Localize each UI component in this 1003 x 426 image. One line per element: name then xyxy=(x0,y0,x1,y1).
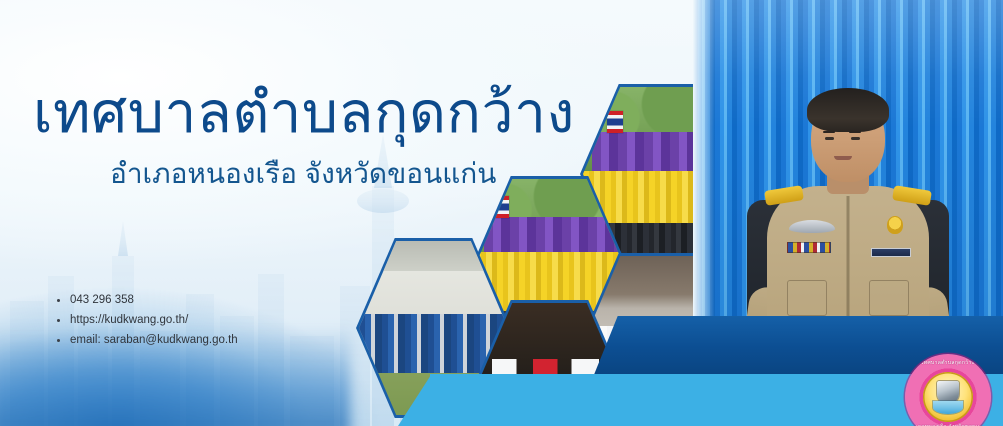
desk-surface-angled xyxy=(594,316,787,374)
municipal-seal[interactable]: เทศบาลตำบลกุดกว้าง อำเภอหนองเรือ จังหวัด… xyxy=(905,354,991,426)
wing-badge-icon xyxy=(789,220,835,233)
eye-left xyxy=(825,137,834,141)
epaulette-right xyxy=(892,185,932,206)
hair xyxy=(807,88,889,132)
pocket-left xyxy=(787,280,827,316)
eyebrow-right xyxy=(849,131,861,134)
eyebrow-left xyxy=(823,131,835,134)
ribbon-bar xyxy=(787,242,831,253)
municipality-banner: เทศบาลตำบลกุดกว้าง อำเภอหนองเรือ จังหวัด… xyxy=(0,0,1003,426)
pocket-right xyxy=(869,280,909,316)
mouth xyxy=(834,156,852,160)
epaulette-left xyxy=(764,185,804,206)
name-tag xyxy=(871,248,911,257)
seal-water-bowl-icon xyxy=(933,401,963,414)
rank-insignia-icon xyxy=(887,216,903,234)
official-portrait xyxy=(741,82,955,342)
eye-right xyxy=(851,137,860,141)
seal-ring-top-text: เทศบาลตำบลกุดกว้าง xyxy=(905,359,991,367)
seal-inner-disc xyxy=(923,372,973,422)
